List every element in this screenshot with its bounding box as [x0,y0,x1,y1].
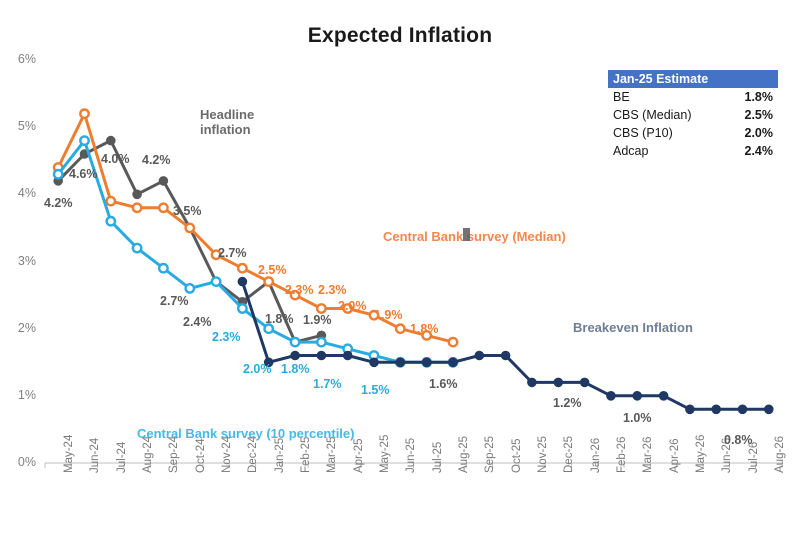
point-annotation: 2.3% [285,283,314,297]
data-point [344,352,352,360]
x-axis-tick-label: Sep-24 [168,436,180,473]
x-axis-tick-label: Jan-25 [274,438,286,473]
point-annotation: 4.2% [44,196,73,210]
y-axis-tick-label: 2% [2,321,36,335]
legend-row: CBS (Median)2.5% [608,106,778,124]
x-axis-tick-label: Mar-26 [642,437,654,473]
x-axis-tick-label: Sep-25 [484,436,496,473]
point-annotation: 2.0% [338,299,367,313]
series-label-cbs-median: Central Bank survey (Median) [383,229,566,244]
series-label-breakeven: Breakeven Inflation [573,320,693,335]
data-point [554,378,562,386]
x-axis-tick-label: May-24 [63,435,75,473]
x-axis-tick-label: Jul-25 [432,442,444,473]
data-point [238,264,246,272]
x-axis-tick-label: Jan-26 [590,438,602,473]
x-axis-tick-label: Nov-24 [221,436,233,473]
data-point [370,358,378,366]
point-annotation: 1.9% [303,313,332,327]
legend-row-value: 2.0% [745,126,774,140]
point-annotation: 1.8% [265,312,294,326]
x-axis-tick-label: Nov-25 [537,436,549,473]
legend-row-label: CBS (Median) [613,108,692,122]
data-point [291,338,299,346]
point-annotation: 1.7% [313,377,342,391]
data-point [107,217,115,225]
point-annotation: 4.6% [69,167,98,181]
legend-row-value: 2.4% [745,144,774,158]
data-point [265,277,273,285]
y-axis-tick-label: 1% [2,388,36,402]
x-axis-tick-label: Mar-25 [326,437,338,473]
data-point [765,405,773,413]
point-annotation: 2.3% [318,283,347,297]
x-axis-tick-label: Jun-25 [405,438,417,473]
data-point [475,352,483,360]
point-annotation: 0.8% [724,433,753,447]
y-axis-tick-label: 3% [2,254,36,268]
legend-rows: BE1.8%CBS (Median)2.5%CBS (P10)2.0%Adcap… [608,88,778,160]
data-point [133,190,141,198]
x-axis-tick-label: Apr-26 [669,438,681,473]
legend-row-label: Adcap [613,144,648,158]
data-point [423,358,431,366]
legend-header: Jan-25 Estimate [608,70,778,88]
data-point [159,264,167,272]
data-point [317,338,325,346]
data-point [133,244,141,252]
x-axis-tick-label: Feb-26 [616,437,628,473]
point-annotation: 1.0% [623,411,652,425]
x-axis-tick-label: Jul-24 [116,442,128,473]
series-label-headline-line2: inflation [200,122,251,137]
x-axis-tick-label: May-26 [695,435,707,473]
data-point [107,137,115,145]
data-point [581,378,589,386]
series-label-headline: Headline inflation [200,107,254,137]
data-point [186,284,194,292]
data-point [80,110,88,118]
chart-container: Expected Inflation 0%1%2%3%4%5%6% May-24… [0,0,800,540]
legend-row-label: BE [613,90,630,104]
data-point [396,358,404,366]
data-point [528,378,536,386]
data-point [449,338,457,346]
point-annotation: 1.9% [374,308,403,322]
y-axis-tick-label: 6% [2,52,36,66]
point-annotation: 2.5% [258,263,287,277]
x-axis-tick-label: Aug-26 [774,436,786,473]
legend-row: CBS (P10)2.0% [608,124,778,142]
data-point [107,197,115,205]
data-point [712,405,720,413]
data-point [186,224,194,232]
data-point [633,392,641,400]
x-axis-tick-label: Aug-24 [142,436,154,473]
data-point [291,352,299,360]
data-point [212,277,220,285]
y-axis-tick-label: 5% [2,119,36,133]
x-axis-tick-label: Dec-25 [563,436,575,473]
series-label-headline-line1: Headline [200,107,254,122]
x-axis-tick-label: Apr-25 [353,438,365,473]
y-axis-tick-label: 4% [2,186,36,200]
text-cursor-artifact [463,228,470,241]
legend-row-value: 1.8% [745,90,774,104]
data-point [133,204,141,212]
x-axis-tick-label: May-25 [379,435,391,473]
point-annotation: 2.3% [212,330,241,344]
data-point [159,177,167,185]
data-point [317,352,325,360]
x-axis-tick-label: Aug-25 [458,436,470,473]
x-axis-tick-label: Feb-25 [300,437,312,473]
point-annotation: 2.4% [183,315,212,329]
data-point [159,204,167,212]
legend-table: Jan-25 Estimate BE1.8%CBS (Median)2.5%CB… [608,70,778,160]
data-point [686,405,694,413]
data-point [317,304,325,312]
data-point [54,170,62,178]
legend-row-label: CBS (P10) [613,126,673,140]
legend-row: Adcap2.4% [608,142,778,160]
point-annotation: 4.0% [101,152,130,166]
data-point [449,358,457,366]
data-point [238,304,246,312]
point-annotation: 3.5% [173,204,202,218]
y-axis-tick-label: 0% [2,455,36,469]
point-annotation: 2.0% [243,362,272,376]
x-axis-tick-label: Dec-24 [247,436,259,473]
data-point [80,136,88,144]
series-line-2 [58,141,453,363]
point-annotation: 1.8% [281,362,310,376]
point-annotation: 1.6% [429,377,458,391]
point-annotation: 4.2% [142,153,171,167]
x-axis-tick-label: Oct-25 [511,438,523,473]
legend-row-value: 2.5% [745,108,774,122]
point-annotation: 2.7% [160,294,189,308]
x-axis-tick-label: Jun-24 [89,438,101,473]
data-point [238,278,246,286]
data-point [739,405,747,413]
point-annotation: 1.5% [361,383,390,397]
point-annotation: 1.2% [553,396,582,410]
series-label-cbs-p10: Central Bank survey (10 percentile) [137,426,354,441]
x-axis-tick-label: Oct-24 [195,438,207,473]
data-point [660,392,668,400]
data-point [396,325,404,333]
point-annotation: 1.8% [410,322,439,336]
point-annotation: 2.7% [218,246,247,260]
legend-row: BE1.8% [608,88,778,106]
data-point [502,352,510,360]
data-point [607,392,615,400]
